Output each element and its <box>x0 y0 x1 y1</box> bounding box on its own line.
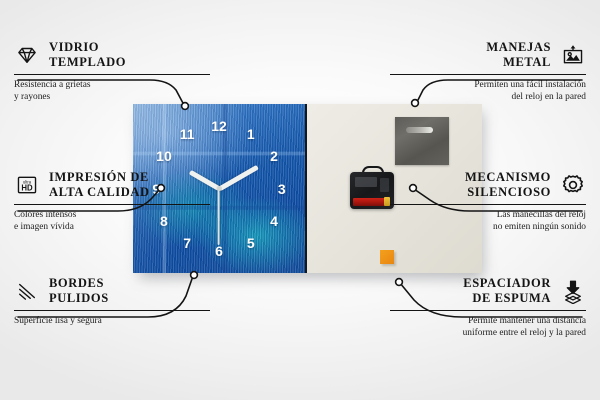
feature-title-line2: SILENCIOSO <box>467 185 551 199</box>
svg-text:HD: HD <box>21 183 33 192</box>
down-arrow-layers-icon <box>560 278 586 304</box>
clock-numeral: 12 <box>211 119 227 133</box>
feature-description: Permite mantener una distancia uniforme … <box>390 315 586 340</box>
clock-center-cap <box>217 186 222 191</box>
feature-header: ESPACIADOR DE ESPUMA <box>390 276 586 306</box>
feature-desc-line2: del reloj en la pared <box>512 92 586 102</box>
foam-spacer-square <box>380 250 394 264</box>
feature-header: MECANISMO SILENCIOSO <box>390 170 586 200</box>
feature-desc-line2: e imagen vívida <box>14 222 74 232</box>
feature-description: Resistencia a grietas y rayones <box>14 79 210 104</box>
feature-espaciador-de-espuma: ESPACIADOR DE ESPUMA Permite mantener un… <box>390 276 586 340</box>
feature-title-line1: MANEJAS <box>486 40 551 54</box>
clock-numeral: 2 <box>270 149 278 163</box>
feature-title-line1: VIDRIO <box>49 40 99 54</box>
clock-numeral: 11 <box>180 127 195 141</box>
clock-numeral: 5 <box>247 236 255 250</box>
product-infographic: 12 1 2 3 4 5 6 7 8 9 10 11 <box>0 0 600 400</box>
diamond-icon <box>14 42 40 68</box>
clock-numeral: 6 <box>215 244 223 258</box>
feature-header: MANEJAS METAL <box>390 40 586 70</box>
feature-description: Las manecillas del reloj no emiten ningú… <box>390 209 586 234</box>
clock-mechanism <box>350 166 394 209</box>
feature-description: Permiten una fácil instalación del reloj… <box>390 79 586 104</box>
hanger-slot <box>406 127 433 133</box>
feature-desc-line1: Las manecillas del reloj <box>497 210 586 220</box>
feature-header: BORDES PULIDOS <box>14 276 210 306</box>
clock-numeral: 10 <box>156 149 172 163</box>
feature-title-line1: BORDES <box>49 276 104 290</box>
feature-divider <box>14 310 210 311</box>
clock-numeral: 4 <box>270 214 278 228</box>
clock-second-hand <box>218 189 220 245</box>
mechanism-panel-detail-2 <box>380 178 389 192</box>
feature-header: VIDRIO TEMPLADO <box>14 40 210 70</box>
feature-title: MANEJAS METAL <box>486 40 551 70</box>
feature-mecanismo-silencioso: MECANISMO SILENCIOSO Las manecillas del … <box>390 170 586 234</box>
feature-divider <box>390 74 586 75</box>
feature-title-line1: MECANISMO <box>465 170 551 184</box>
gear-icon <box>560 172 586 198</box>
feature-header: ultra HD IMPRESIÓN DE ALTA CALIDAD <box>14 170 210 200</box>
feature-title-line2: METAL <box>503 55 551 69</box>
feature-title-line2: DE ESPUMA <box>472 291 551 305</box>
feature-divider <box>14 204 210 205</box>
mechanism-body <box>350 172 394 209</box>
battery <box>353 198 385 206</box>
clock-numeral: 7 <box>183 236 191 250</box>
feature-bordes-pulidos: BORDES PULIDOS Superficie lisa y segura <box>14 276 210 327</box>
feature-desc-line1: Resistencia a grietas <box>14 80 91 90</box>
clock-numeral: 3 <box>278 182 286 196</box>
feature-description: Colores intensos e imagen vívida <box>14 209 210 234</box>
feature-title: IMPRESIÓN DE ALTA CALIDAD <box>49 170 150 200</box>
feature-impresion-alta-calidad: ultra HD IMPRESIÓN DE ALTA CALIDAD Color… <box>14 170 210 234</box>
mechanism-panel-detail <box>355 177 377 187</box>
ultra-hd-icon: ultra HD <box>14 172 40 198</box>
feature-title-line2: TEMPLADO <box>49 55 126 69</box>
feature-desc-line1: Superficie lisa y segura <box>14 316 102 326</box>
polished-edges-icon <box>14 278 40 304</box>
feature-title-line2: ALTA CALIDAD <box>49 185 150 199</box>
feature-description: Superficie lisa y segura <box>14 315 210 327</box>
feature-title: ESPACIADOR DE ESPUMA <box>463 276 551 306</box>
feature-divider <box>390 310 586 311</box>
feature-desc-line2: y rayones <box>14 92 50 102</box>
feature-title-line1: IMPRESIÓN DE <box>49 170 149 184</box>
feature-desc-line1: Permiten una fácil instalación <box>474 80 586 90</box>
feature-desc-line2: uniforme entre el reloj y la pared <box>463 328 586 338</box>
feature-manejas-metal: MANEJAS METAL Permiten una fácil instala… <box>390 40 586 104</box>
feature-divider <box>390 204 586 205</box>
feature-vidrio-templado: VIDRIO TEMPLADO Resistencia a grietas y … <box>14 40 210 104</box>
feature-title: BORDES PULIDOS <box>49 276 109 306</box>
feature-title-line2: PULIDOS <box>49 291 109 305</box>
feature-desc-line1: Colores intensos <box>14 210 76 220</box>
feature-divider <box>14 74 210 75</box>
feature-title-line1: ESPACIADOR <box>463 276 551 290</box>
feature-title: MECANISMO SILENCIOSO <box>465 170 551 200</box>
clock-numeral: 1 <box>247 127 255 141</box>
feature-desc-line2: no emiten ningún sonido <box>493 222 586 232</box>
feature-desc-line1: Permite mantener una distancia <box>468 316 586 326</box>
wall-frame-icon <box>560 42 586 68</box>
metal-hanger-plate-icon <box>395 117 449 165</box>
feature-title: VIDRIO TEMPLADO <box>49 40 126 70</box>
